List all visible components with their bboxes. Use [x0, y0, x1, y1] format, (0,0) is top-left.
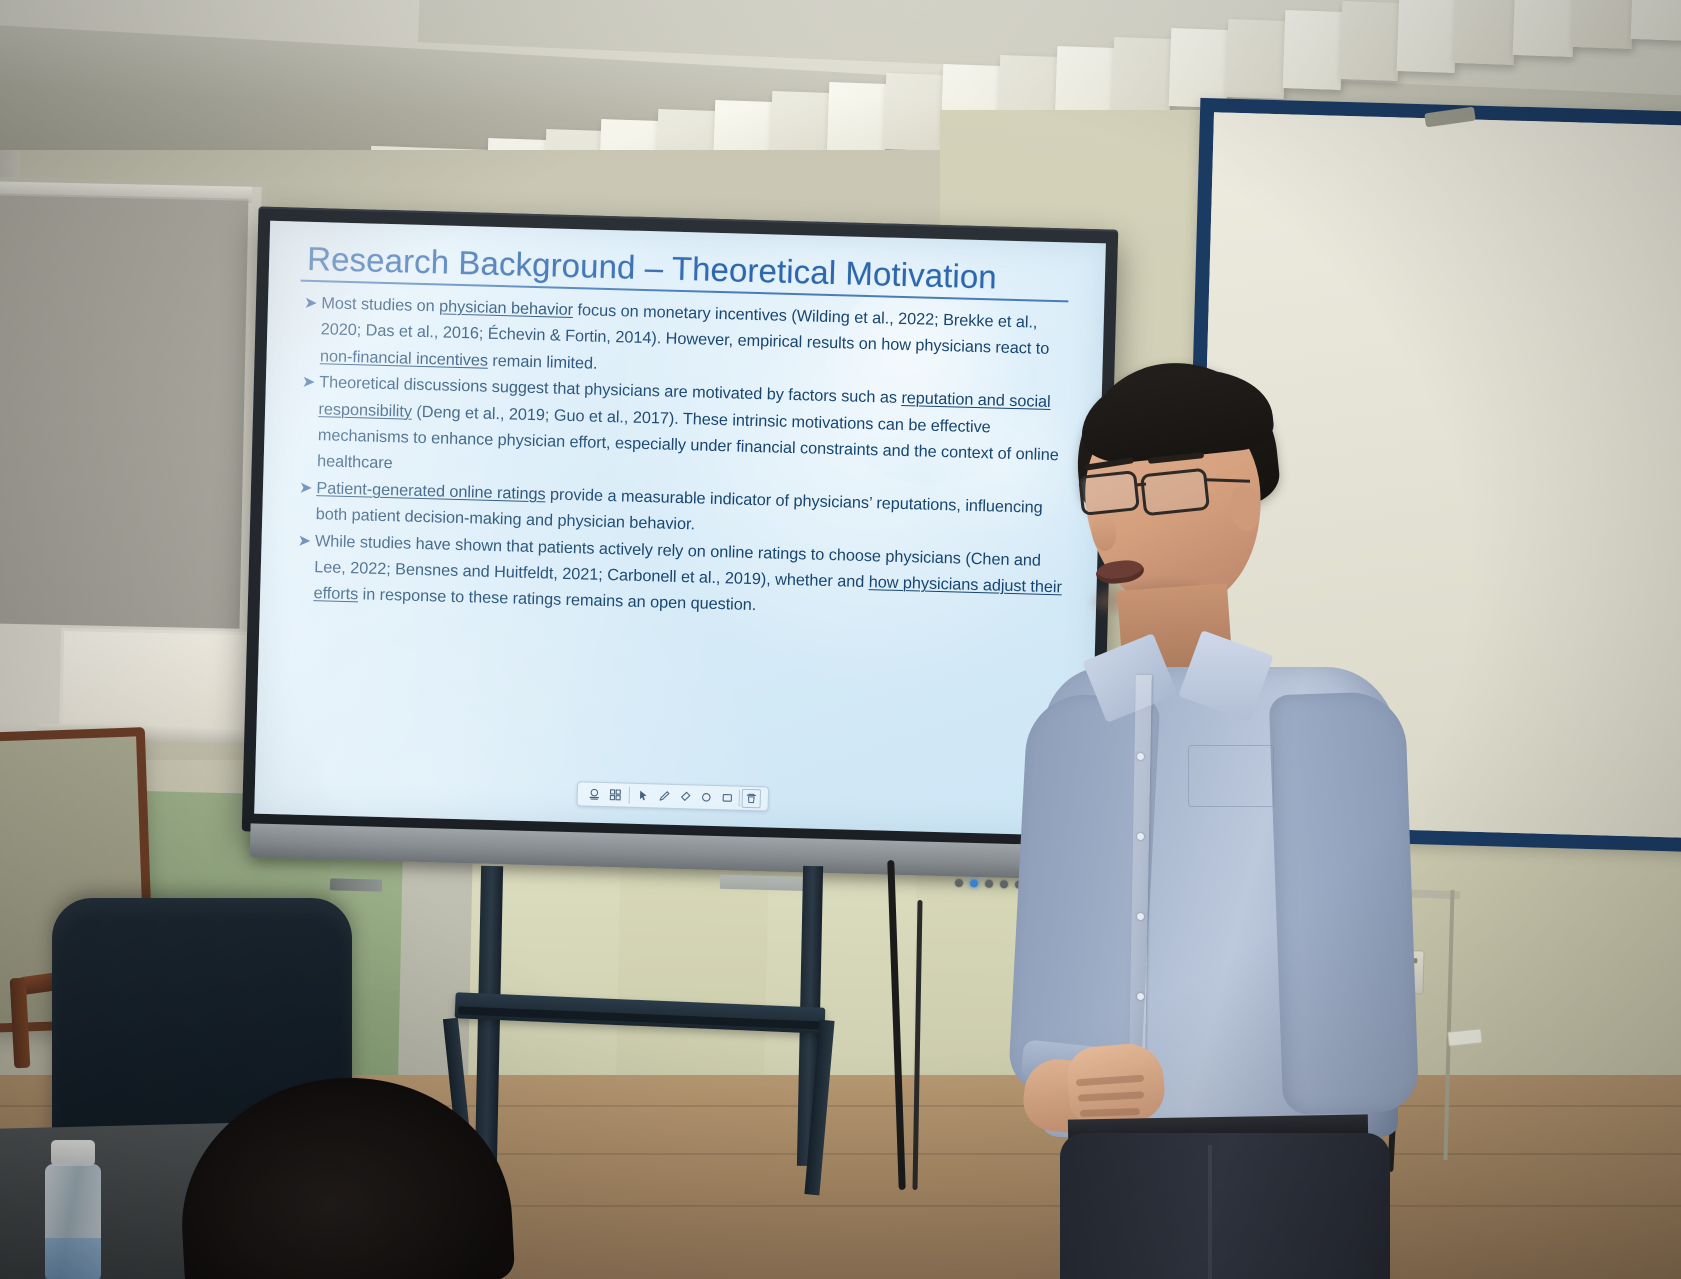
pen-icon[interactable]: [655, 786, 675, 806]
trouser-crease: [1208, 1145, 1212, 1279]
circle-shape-icon[interactable]: [697, 788, 717, 808]
led-indicator: [955, 879, 963, 887]
cursor-select-icon[interactable]: [634, 786, 654, 806]
bullet-marker-icon: ➤: [302, 369, 316, 396]
water-bottle: [45, 1140, 101, 1279]
shirt-pocket: [1188, 745, 1274, 807]
eyeglasses-lens: [1140, 468, 1210, 517]
shirt-button: [1137, 913, 1144, 920]
presenter: [980, 355, 1400, 1279]
bullet-marker-icon: ➤: [304, 290, 318, 317]
acoustic-panel: [1454, 0, 1517, 65]
classroom-scene: Research Background – Theoretical Motiva…: [0, 0, 1681, 1279]
eyeglasses-lens: [1078, 470, 1140, 516]
acoustic-panel: [827, 82, 888, 160]
grid-view-icon[interactable]: [606, 785, 626, 805]
acoustic-panel: [1397, 0, 1458, 73]
acoustic-panel: [1226, 19, 1287, 99]
slide-content: Research Background – Theoretical Motiva…: [254, 221, 1106, 836]
window-blind[interactable]: [0, 193, 248, 628]
bottle-cap: [51, 1140, 95, 1166]
bullet-marker-icon: ➤: [299, 474, 313, 501]
acoustic-panel: [1631, 0, 1681, 41]
bottle-label: [45, 1238, 101, 1279]
bullet-text: Theoretical discussions suggest that phy…: [317, 369, 1076, 495]
bullet-marker-icon: ➤: [297, 527, 311, 554]
slide-bullet: ➤ Theoretical discussions suggest that p…: [299, 369, 1076, 495]
presenter-trousers: [1060, 1133, 1390, 1279]
shirt-button: [1137, 993, 1144, 1000]
display-ir-sensor: [720, 875, 815, 892]
acoustic-panel: [1340, 1, 1401, 81]
shirt-button: [1137, 753, 1144, 760]
shirt-button: [1137, 833, 1144, 840]
acoustic-panel: [1572, 0, 1635, 49]
rectangle-shape-icon[interactable]: [718, 788, 738, 808]
toolbar-separator: [739, 790, 740, 807]
acoustic-panel: [1169, 28, 1230, 108]
eraser-icon[interactable]: [676, 787, 696, 807]
bottle-body: [45, 1164, 101, 1279]
acoustic-panel: [1112, 37, 1173, 116]
toolbar-group-right: [630, 786, 765, 809]
acoustic-panel: [1513, 0, 1576, 57]
acoustic-panel: [1283, 10, 1344, 90]
annotation-toolbar[interactable]: [577, 781, 770, 811]
acoustic-panel: [884, 73, 945, 151]
slide-bullet-list: ➤ Most studies on physician behavior foc…: [286, 289, 1078, 627]
presenter-arm-right: [1269, 691, 1420, 1115]
led-indicator-active: [970, 879, 978, 887]
display-screen[interactable]: Research Background – Theoretical Motiva…: [254, 221, 1106, 836]
display-brand-logo: [330, 878, 382, 891]
ink-annotation-icon[interactable]: [585, 785, 605, 805]
delete-icon[interactable]: [742, 789, 762, 809]
toolbar-group-left: [581, 784, 629, 804]
